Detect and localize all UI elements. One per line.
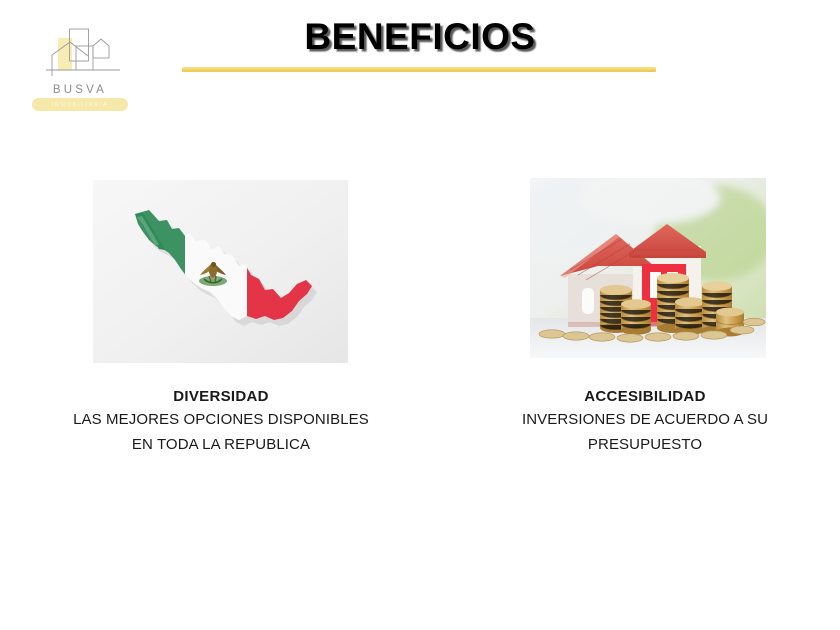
brand-name: BUSVA bbox=[24, 84, 136, 96]
page-title: BENEFICIOS bbox=[0, 16, 840, 58]
benefit-body-line2-accesibilidad: PRESUPUESTO bbox=[446, 432, 840, 457]
benefit-caption-accesibilidad: ACCESIBILIDAD INVERSIONES DE ACUERDO A S… bbox=[446, 386, 840, 457]
benefit-body-line1-accesibilidad: INVERSIONES DE ACUERDO A SU bbox=[446, 407, 840, 432]
brand-tagline-band: INMOBILIARIA bbox=[32, 98, 128, 111]
benefit-caption-diversidad: DIVERSIDAD LAS MEJORES OPCIONES DISPONIB… bbox=[10, 386, 432, 457]
house-coins-image bbox=[530, 178, 766, 358]
title-divider bbox=[182, 67, 656, 72]
brand-tagline: INMOBILIARIA bbox=[52, 102, 109, 108]
benefit-heading-accesibilidad: ACCESIBILIDAD bbox=[446, 386, 840, 407]
mexico-map-flag-image bbox=[93, 180, 348, 363]
benefit-body-line1-diversidad: LAS MEJORES OPCIONES DISPONIBLES bbox=[10, 407, 432, 432]
benefit-heading-diversidad: DIVERSIDAD bbox=[10, 386, 432, 407]
benefit-body-line2-diversidad: EN TODA LA REPUBLICA bbox=[10, 432, 432, 457]
